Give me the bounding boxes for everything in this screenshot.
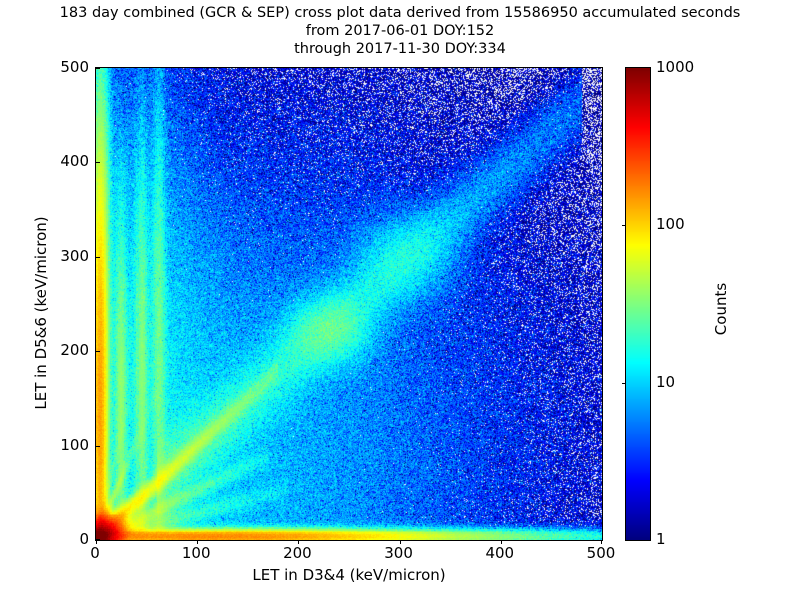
colorbar-tick-label: 1 [656, 530, 666, 548]
density-heatmap [96, 68, 602, 540]
y-tick-label: 200 [31, 341, 89, 359]
colorbar-gradient [626, 68, 650, 540]
y-tick-mark [96, 257, 100, 258]
colorbar-label: Counts [712, 209, 730, 409]
colorbar-tick-label: 1000 [656, 58, 694, 76]
y-tick-label: 500 [31, 58, 89, 76]
y-tick-mark [96, 68, 100, 69]
y-tick-mark [96, 351, 100, 352]
y-axis-label: LET in D5&6 (keV/micron) [32, 193, 50, 433]
figure-root: 183 day combined (GCR & SEP) cross plot … [0, 0, 800, 600]
colorbar-tick-label: 10 [656, 373, 675, 391]
y-tick-label: 400 [31, 152, 89, 170]
x-tick-label: 100 [166, 544, 226, 562]
colorbar-tick-mark [622, 225, 626, 226]
x-tick-label: 300 [369, 544, 429, 562]
title-line-1: 183 day combined (GCR & SEP) cross plot … [0, 4, 800, 22]
y-tick-mark [96, 539, 100, 540]
x-tick-label: 200 [267, 544, 327, 562]
plot-area [95, 67, 603, 541]
y-tick-label: 0 [31, 530, 89, 548]
colorbar [625, 67, 651, 541]
colorbar-tick-label: 100 [656, 215, 685, 233]
x-tick-label: 500 [571, 544, 631, 562]
y-tick-mark [96, 446, 100, 447]
x-tick-label: 400 [470, 544, 530, 562]
chart-title: 183 day combined (GCR & SEP) cross plot … [0, 4, 800, 58]
title-line-2: from 2017-06-01 DOY:152 [0, 22, 800, 40]
title-line-3: through 2017-11-30 DOY:334 [0, 40, 800, 58]
y-tick-label: 300 [31, 247, 89, 265]
x-axis-label: LET in D3&4 (keV/micron) [95, 566, 603, 584]
colorbar-tick-mark [622, 383, 626, 384]
y-tick-mark [96, 162, 100, 163]
y-tick-label: 100 [31, 436, 89, 454]
